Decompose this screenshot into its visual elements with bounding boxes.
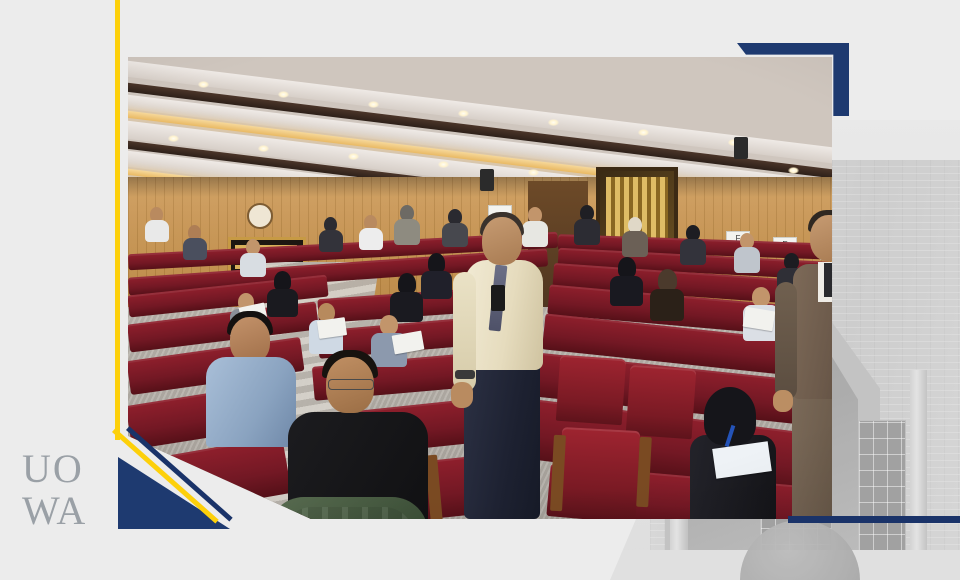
- seat: [556, 355, 626, 425]
- ceiling-downlight: [198, 81, 209, 88]
- invigilator-right-trousers: [792, 387, 832, 519]
- wristwatch: [455, 370, 475, 379]
- green-armchair: [268, 497, 428, 519]
- logo-line-2: WA: [22, 490, 142, 532]
- ceiling-speaker: [480, 169, 494, 191]
- logo-line-1: UO: [22, 448, 142, 490]
- ceiling-downlight: [438, 161, 449, 168]
- uowa-logo: UO WA: [22, 448, 142, 538]
- exam-hall-photo: F E D: [128, 57, 832, 519]
- invigilator-left-head: [482, 217, 522, 265]
- ceiling-downlight: [528, 169, 539, 176]
- seat: [558, 427, 640, 517]
- ceiling-downlight: [348, 153, 359, 160]
- invigilator-right-tie: [824, 263, 832, 297]
- watermark-column: [910, 370, 927, 570]
- exam-paper: [317, 317, 347, 339]
- eyeglasses: [328, 379, 374, 390]
- navy-horizontal-rule: [788, 516, 960, 523]
- student-blue-body: [206, 357, 296, 447]
- invigilator-left-badge: [491, 285, 505, 311]
- wall-clock: [247, 203, 273, 229]
- ceiling-downlight: [168, 135, 179, 142]
- ceiling-downlight: [548, 119, 559, 126]
- ceiling-downlight: [788, 167, 799, 174]
- ceiling-downlight: [258, 145, 269, 152]
- ceiling-downlight: [368, 101, 379, 108]
- page-canvas: F E D: [0, 0, 960, 580]
- invigilator-right-head: [810, 215, 832, 261]
- invigilator-right-arm: [775, 282, 797, 400]
- ceiling-downlight: [638, 129, 649, 136]
- ceiling-speaker: [734, 137, 748, 159]
- watermark-window: [858, 420, 906, 552]
- seat: [626, 365, 697, 439]
- invigilator-left-hand: [451, 382, 473, 408]
- ceiling: [128, 57, 832, 185]
- ceiling-downlight: [458, 110, 469, 117]
- invigilator-right-hand: [773, 390, 793, 412]
- yellow-vertical-rule: [115, 0, 120, 440]
- ceiling-downlight: [278, 91, 289, 98]
